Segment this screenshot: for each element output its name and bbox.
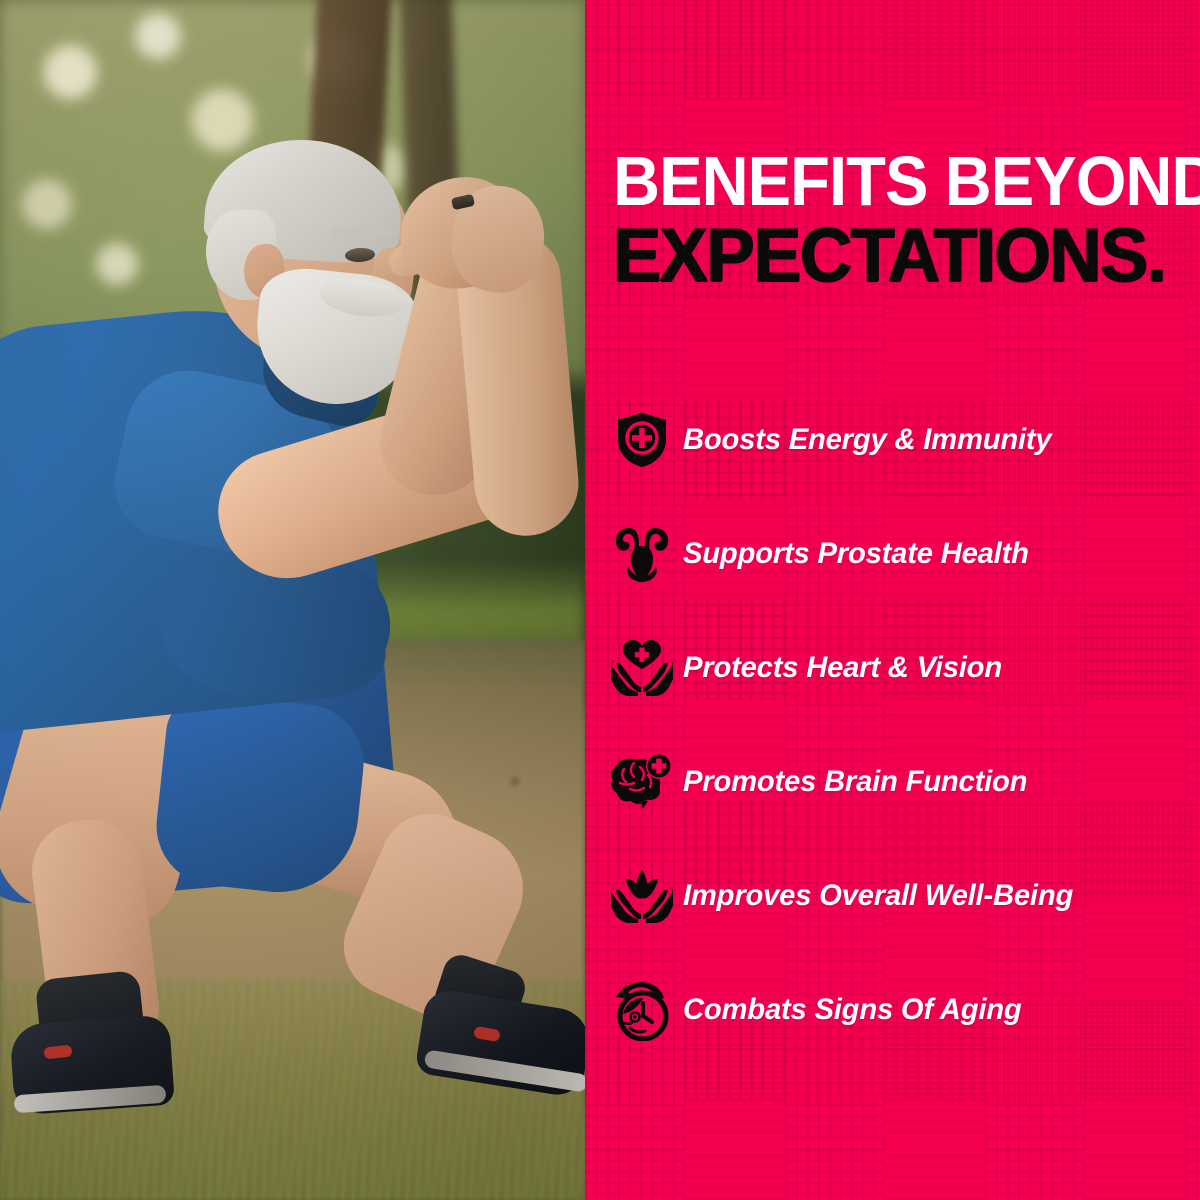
benefit-label: Protects Heart & Vision xyxy=(683,651,1002,685)
headline: BENEFITS BEYOND EXPECTATIONS. xyxy=(613,148,1193,294)
benefit-item-1: Boosts Energy & Immunity xyxy=(585,383,1200,497)
benefit-label: Combats Signs Of Aging xyxy=(683,993,1022,1027)
benefit-label: Supports Prostate Health xyxy=(683,537,1029,571)
prostate-kidneys-icon xyxy=(605,524,679,584)
benefits-list: Boosts Energy & Immunity Supports Prosta… xyxy=(585,383,1200,1067)
benefit-item-5: Improves Overall Well-Being xyxy=(585,839,1200,953)
hands-heart-plus-icon xyxy=(605,639,679,697)
benefit-item-6: Combats Signs Of Aging xyxy=(585,953,1200,1067)
benefit-label: Improves Overall Well-Being xyxy=(683,879,1073,913)
benefit-item-3: Protects Heart & Vision xyxy=(585,611,1200,725)
brain-plus-icon xyxy=(605,753,679,811)
benefit-label: Promotes Brain Function xyxy=(683,765,1027,799)
hands-lotus-icon xyxy=(605,868,679,924)
benefits-panel: BENEFITS BEYOND EXPECTATIONS. Boosts Ene… xyxy=(585,0,1200,1200)
senior-man-figure xyxy=(0,0,585,1200)
benefit-item-4: Promotes Brain Function xyxy=(585,725,1200,839)
headline-line-1: BENEFITS BEYOND xyxy=(613,148,1152,215)
benefits-promo-graphic: BENEFITS BEYOND EXPECTATIONS. Boosts Ene… xyxy=(0,0,1200,1200)
benefit-label: Boosts Energy & Immunity xyxy=(683,423,1051,457)
anti-aging-clock-face-icon xyxy=(605,979,679,1041)
lifestyle-photo xyxy=(0,0,585,1200)
headline-line-2: EXPECTATIONS. xyxy=(613,219,1164,293)
shield-plus-icon xyxy=(605,411,679,469)
benefit-item-2: Supports Prostate Health xyxy=(585,497,1200,611)
